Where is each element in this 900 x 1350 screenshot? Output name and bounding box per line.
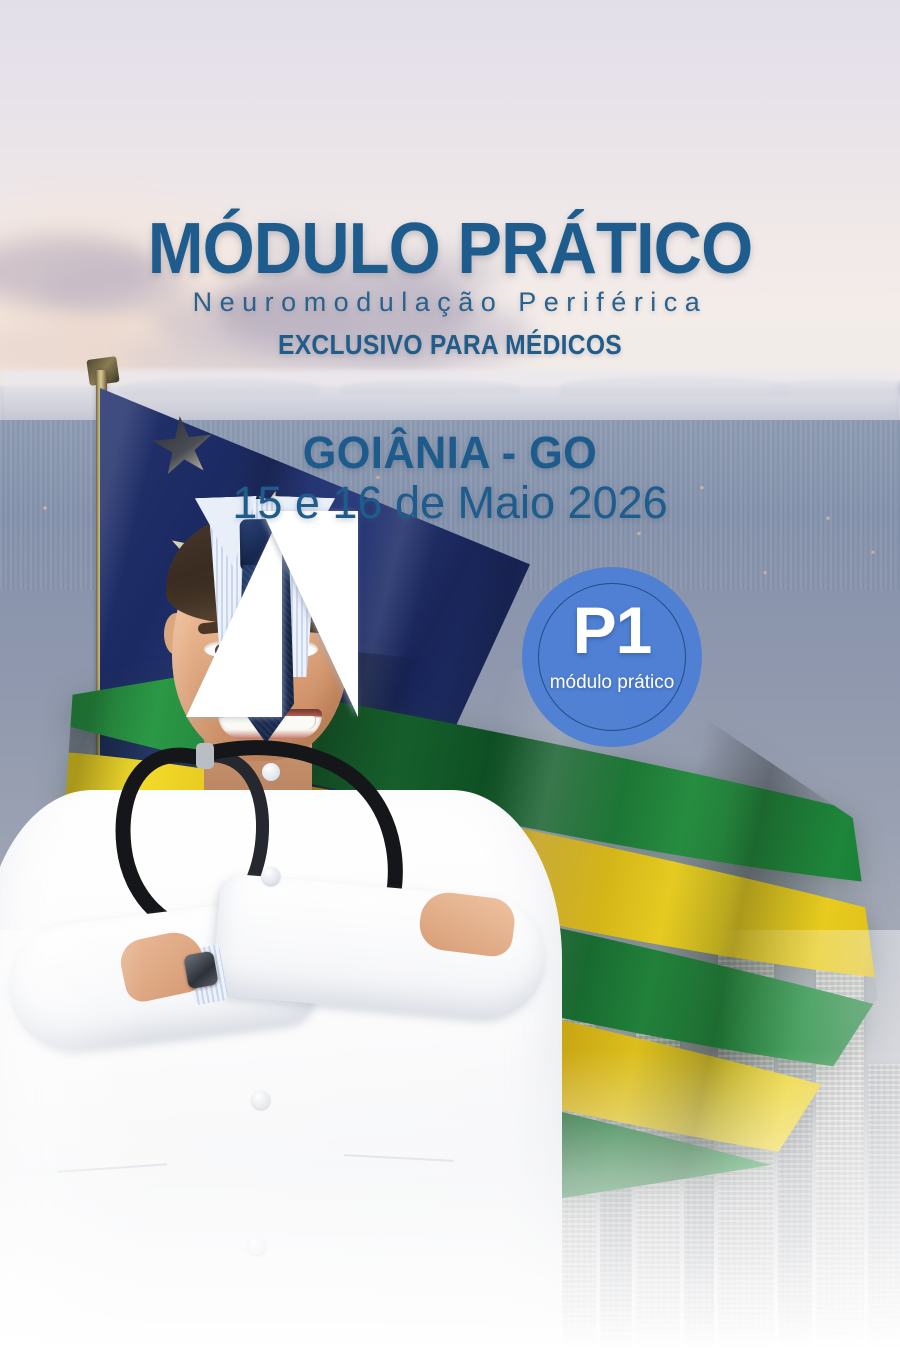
event-date: 15 e 16 de Maio 2026 [0, 477, 900, 529]
audience-tagline: EXCLUSIVO PARA MÉDICOS [54, 329, 846, 361]
page-subtitle: Neuromodulação Periférica [0, 287, 900, 318]
coat-button [262, 763, 280, 781]
coat-lapel [262, 511, 358, 717]
coat-button [262, 867, 280, 885]
doctor-figure [0, 495, 550, 1350]
coat-pocket [340, 1154, 454, 1238]
lab-coat [0, 790, 562, 1350]
badge-caption: módulo prático [522, 672, 702, 694]
coat-button [248, 1237, 266, 1255]
coat-pocket [57, 1163, 172, 1248]
event-city: GOIÂNIA - GO [18, 427, 882, 479]
event-poster: MÓDULO PRÁTICO Neuromodulação Periférica… [0, 0, 900, 1350]
page-title: MÓDULO PRÁTICO [32, 213, 869, 285]
badge-code: P1 [522, 597, 702, 663]
wristwatch [183, 951, 218, 990]
coat-button [252, 1091, 270, 1109]
module-badge: P1 módulo prático [522, 567, 702, 747]
